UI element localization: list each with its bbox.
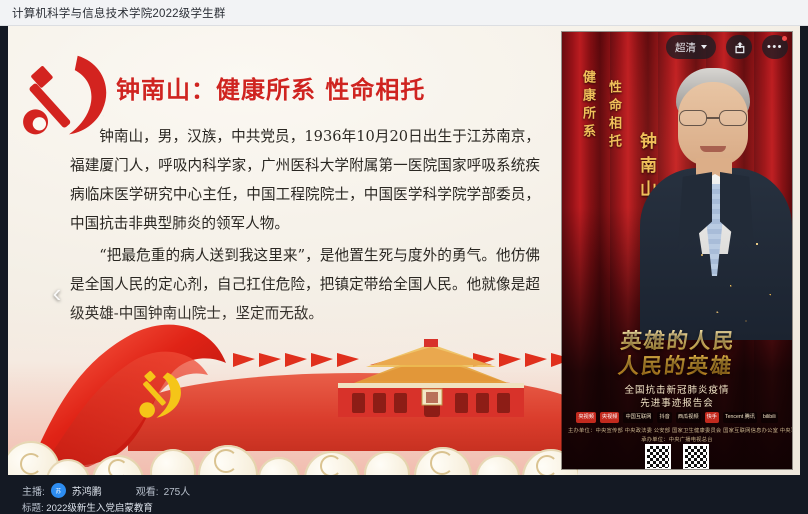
poster-co-organizer: 承办单位：中央广播电视总台 bbox=[568, 435, 786, 443]
logo-chip: 西瓜视频 bbox=[676, 412, 701, 423]
poster-subtitle: 全国抗击新冠肺炎疫情 先进事迹报告会 bbox=[562, 384, 792, 410]
sponsor-logo-row: 央视频 央视频 中国互联网 抖音 西瓜视频 快手 Tencent 腾讯 bili… bbox=[570, 412, 784, 423]
chevron-left-icon: ‹ bbox=[53, 280, 62, 306]
more-options-button[interactable]: ••• bbox=[762, 35, 788, 59]
auspicious-clouds bbox=[8, 411, 578, 475]
poster-headline: 英雄的人民 人民的英雄 bbox=[562, 328, 792, 378]
poster-organizer: 主办单位：中央宣传部 中央政法委 公安部 国家卫生健康委员会 国家互联网信息办公… bbox=[568, 426, 786, 434]
quality-selector[interactable]: 超清 bbox=[666, 35, 716, 59]
logo-chip: 央视频 bbox=[576, 412, 596, 423]
poster-headline-line2: 人民的英雄 bbox=[562, 353, 792, 378]
poster-vertical-text-mid: 性命相托 bbox=[604, 80, 623, 152]
chevron-down-icon bbox=[701, 45, 707, 49]
avatar[interactable]: 苏 bbox=[51, 483, 66, 498]
topic-value: 2022级新生入党启蒙教育 bbox=[46, 503, 153, 514]
watch-count: 275人 bbox=[164, 483, 191, 498]
presentation-slide: 钟南山：健康所系 性命相托 钟南山，男，汉族，中共党员，1936年10月20日出… bbox=[8, 26, 800, 475]
notification-badge bbox=[782, 36, 787, 41]
prev-slide-button[interactable]: ‹ bbox=[40, 271, 74, 315]
watch-label: 观看: bbox=[136, 483, 159, 498]
glasses-icon bbox=[678, 110, 748, 127]
window-titlebar: 计算机科学与信息技术学院2022级学生群 bbox=[0, 0, 808, 26]
gold-sparkles bbox=[680, 222, 790, 332]
slide-illustration bbox=[8, 300, 578, 475]
logo-chip: Tencent 腾讯 bbox=[723, 412, 757, 423]
quality-label: 超清 bbox=[675, 40, 696, 55]
slide-paragraph-1: 钟南山，男，汉族，中共党员，1936年10月20日出生于江苏南京，福建厦门人，呼… bbox=[70, 122, 540, 238]
host-name: 苏鸿鹏 bbox=[72, 483, 102, 498]
stream-info-footer: 主播: 苏 苏鸿鹏 观看: 275人 标题: 2022级新生入党启蒙教育 bbox=[0, 476, 808, 514]
topic-row: 标题: 2022级新生入党启蒙教育 bbox=[22, 500, 153, 514]
logo-chip: 央视频 bbox=[600, 412, 620, 423]
logo-chip: 抖音 bbox=[657, 412, 671, 423]
logo-chip: bilibili bbox=[761, 412, 778, 423]
event-poster: 健康所系 性命相托 钟南山 bbox=[562, 32, 792, 469]
poster-vertical-text-left: 健康所系 bbox=[578, 70, 597, 142]
poster-subtitle-line2: 先进事迹报告会 bbox=[562, 397, 792, 410]
logo-chip: 中国互联网 bbox=[623, 412, 653, 423]
host-row: 主播: 苏 苏鸿鹏 观看: 275人 bbox=[22, 483, 190, 498]
share-icon bbox=[733, 41, 746, 54]
logo-chip: 快手 bbox=[705, 412, 719, 423]
window-title: 计算机科学与信息技术学院2022级学生群 bbox=[12, 5, 226, 21]
qr-code-icon bbox=[645, 444, 671, 469]
share-button[interactable] bbox=[726, 35, 752, 59]
slide-title: 钟南山：健康所系 性命相托 bbox=[116, 70, 425, 105]
more-dots-icon: ••• bbox=[767, 42, 783, 53]
portrait-mouth bbox=[700, 146, 726, 152]
poster-qr-codes bbox=[562, 444, 792, 469]
video-stage[interactable]: 钟南山：健康所系 性命相托 钟南山，男，汉族，中共党员，1936年10月20日出… bbox=[8, 26, 800, 475]
poster-headline-line1: 英雄的人民 bbox=[562, 328, 792, 353]
host-label: 主播: bbox=[22, 483, 45, 498]
poster-subtitle-line1: 全国抗击新冠肺炎疫情 bbox=[562, 384, 792, 397]
qr-code-icon bbox=[683, 444, 709, 469]
player-controls: 超清 ••• bbox=[666, 35, 788, 59]
topic-label: 标题: bbox=[22, 503, 44, 514]
live-stream-window: 计算机科学与信息技术学院2022级学生群 bbox=[0, 0, 808, 514]
